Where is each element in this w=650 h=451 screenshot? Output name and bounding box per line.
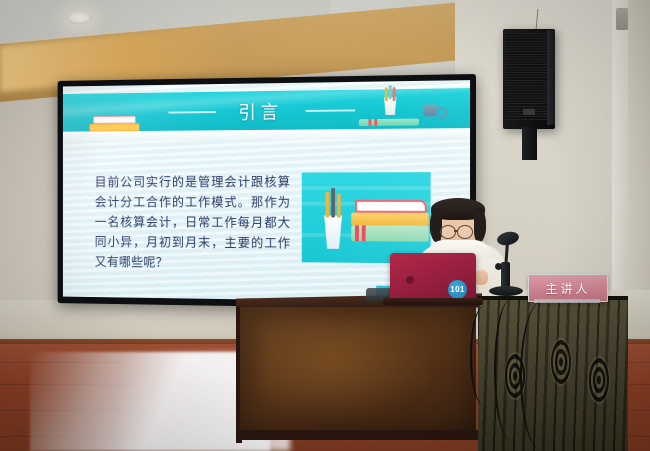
ceiling-downlight-icon [66,12,92,24]
wall-speaker [503,29,555,129]
microphone-knob[interactable] [495,263,502,270]
glasses-right-lens [457,225,473,239]
decor-mug-handle [437,107,448,118]
lecture-room-photo: 引言 目前公司实行的是管理会计跟核算会计分工合作的工作模式。那作为一名核算会计，… [0,0,650,451]
wood-knot [588,356,610,404]
placard-label: 主讲人 [545,280,590,297]
decor-pencil [389,85,391,99]
speaker-bracket [522,127,537,160]
hair-side-left [430,208,442,242]
laptop-sticker: 101 [448,280,467,299]
decor-book-mark [374,119,377,126]
placard-stand [534,299,600,303]
illustration-pencil [325,192,329,217]
laptop-base [383,298,483,305]
podium-highlight [260,320,440,420]
wall-bracket-icon [616,8,628,30]
decor-mug [423,104,438,116]
illustration-book-mark [362,225,366,241]
hand [474,270,488,285]
hair-side-right [474,208,486,242]
wall-corner-highlight [612,0,628,330]
decor-book-mark [369,119,372,126]
decor-pencil [385,87,387,101]
slide-body-text: 目前公司实行的是管理会计跟核算会计分工合作的工作模式。那作为一名核算会计，日常工… [95,173,291,275]
glasses-left-lens [440,225,456,239]
illustration-pencil [337,194,341,218]
speaker-side [547,30,555,125]
laptop-logo-icon [406,276,414,284]
illustration-pencil [331,188,335,217]
glasses-bridge [454,230,458,232]
speaker-grille [506,33,548,120]
microphone-base [489,286,523,296]
speaker-badge [523,109,535,115]
illustration-book-mark [355,225,359,241]
speaker-name-placard: 主讲人 [528,274,608,302]
decor-pencil [393,87,395,101]
podium-base [236,430,482,440]
hanging-cable [520,302,562,450]
microphone-body [501,262,510,288]
